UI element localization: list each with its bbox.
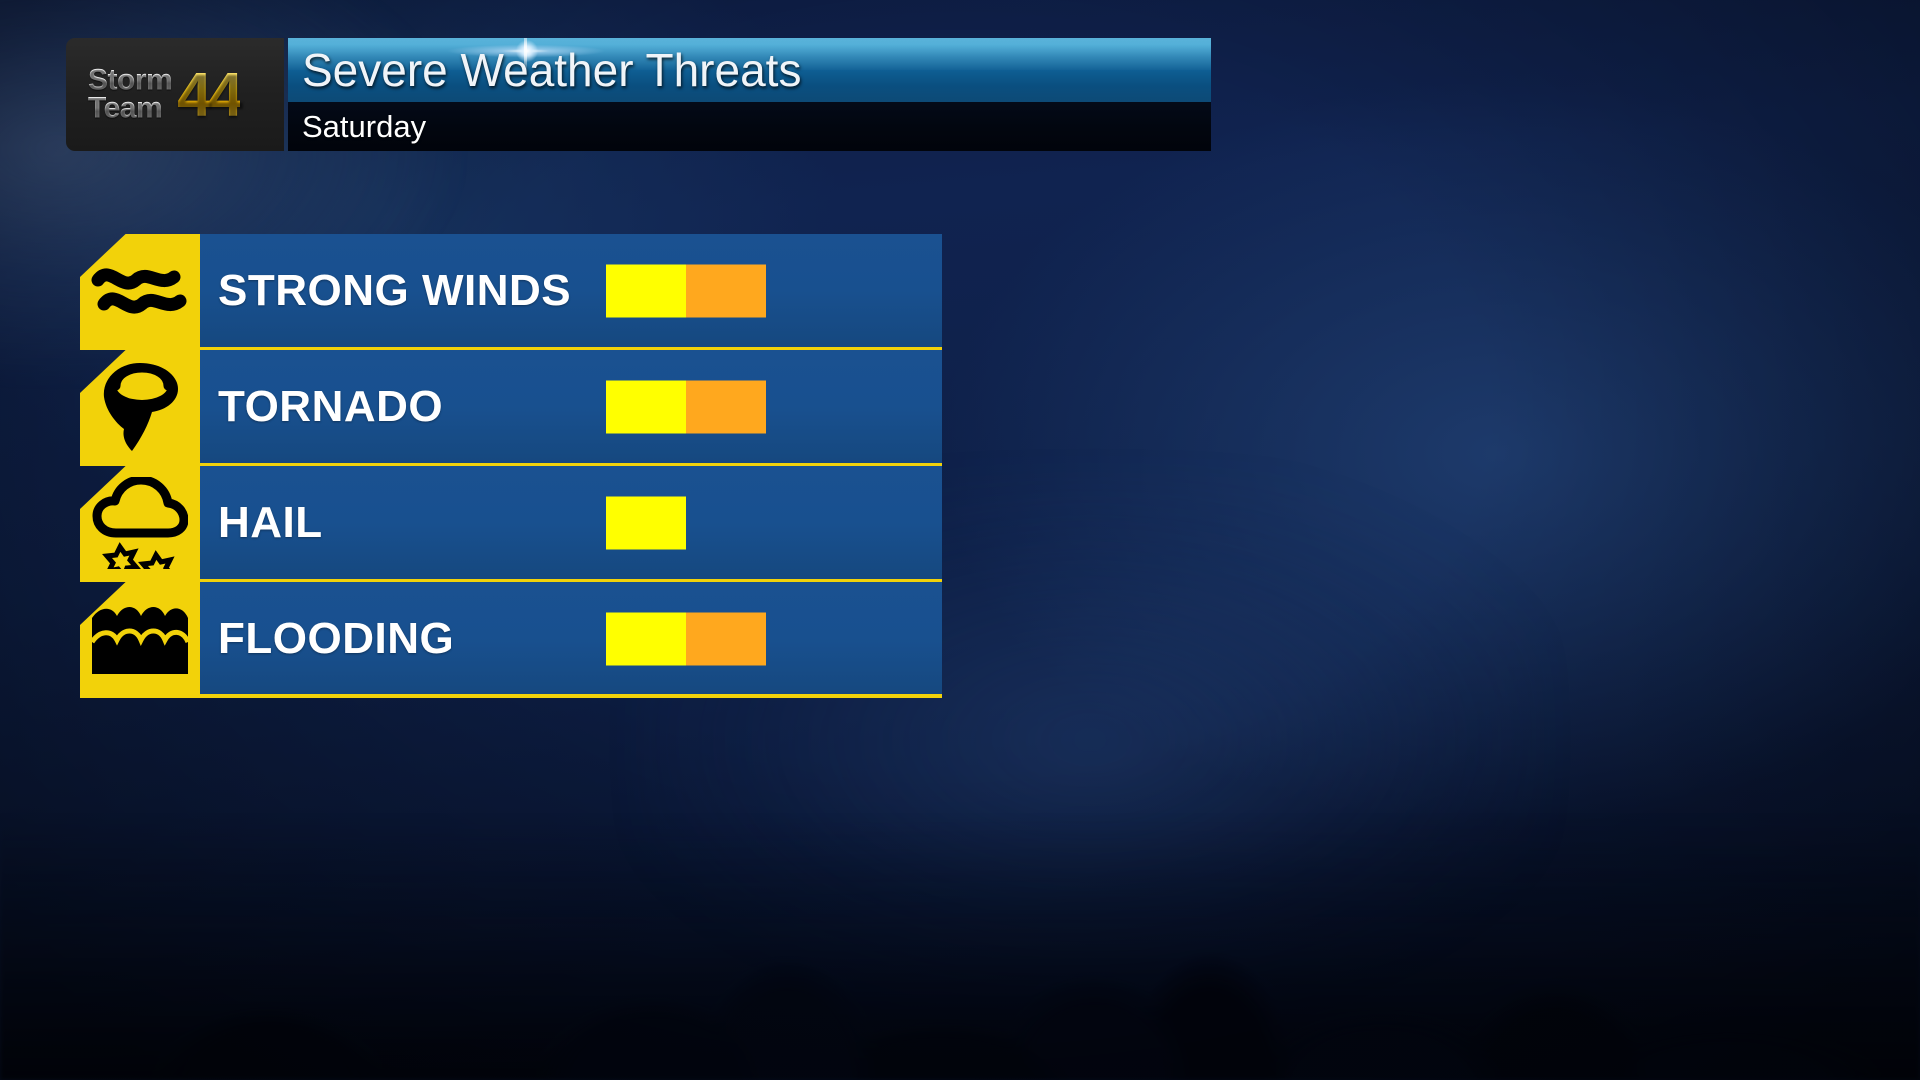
threat-row: FLOODING — [80, 582, 942, 695]
subtitle-bar: Saturday — [288, 102, 1211, 151]
title-bar: Severe Weather Threats — [288, 38, 1211, 102]
threat-row: STRONG WINDS — [80, 234, 942, 347]
threat-list: STRONG WINDS TORNADO — [80, 234, 942, 695]
page-subtitle: Saturday — [302, 109, 426, 145]
threat-row: TORNADO — [80, 350, 942, 463]
flooding-icon — [80, 582, 200, 695]
row-divider — [80, 347, 942, 350]
storm-team-44-logo: Storm Team 44 — [66, 38, 284, 151]
threat-level-meter — [606, 612, 766, 665]
table-bottom-rule — [80, 694, 942, 698]
threat-level-segment — [606, 496, 686, 549]
title-stack: Severe Weather Threats Saturday — [288, 38, 1211, 151]
threat-level-segment — [686, 264, 766, 317]
threat-name: HAIL — [218, 498, 323, 548]
threat-level-segment — [606, 264, 686, 317]
threat-level-segment — [686, 612, 766, 665]
hail-icon — [80, 466, 200, 579]
threat-icon-cell — [80, 234, 200, 347]
threat-level-meter — [606, 264, 766, 317]
threat-icon-cell — [80, 350, 200, 463]
page-title: Severe Weather Threats — [302, 43, 801, 97]
wind-icon — [80, 234, 200, 347]
row-divider — [80, 463, 942, 466]
header: Storm Team 44 Severe Weather Threats Sat… — [66, 38, 1211, 151]
threat-label-cell: HAIL — [200, 466, 942, 579]
logo-line-team: Team — [88, 95, 172, 123]
logo-channel-number: 44 — [177, 59, 240, 130]
threat-label-cell: FLOODING — [200, 582, 942, 695]
threat-name: FLOODING — [218, 614, 454, 664]
threat-level-meter — [606, 496, 686, 549]
threat-level-segment — [606, 612, 686, 665]
logo-wordmark: Storm Team — [88, 67, 172, 122]
threat-row: HAIL — [80, 466, 942, 579]
logo-inner: Storm Team 44 — [88, 59, 240, 130]
tornado-icon — [80, 350, 200, 463]
threat-level-segment — [606, 380, 686, 433]
threat-level-meter — [606, 380, 766, 433]
threat-level-segment — [686, 380, 766, 433]
threat-label-cell: TORNADO — [200, 350, 942, 463]
threat-icon-cell — [80, 466, 200, 579]
threat-name: TORNADO — [218, 382, 443, 432]
logo-line-storm: Storm — [88, 67, 172, 95]
row-divider — [80, 579, 942, 582]
threat-label-cell: STRONG WINDS — [200, 234, 942, 347]
threat-name: STRONG WINDS — [218, 266, 571, 316]
threat-icon-cell — [80, 582, 200, 695]
